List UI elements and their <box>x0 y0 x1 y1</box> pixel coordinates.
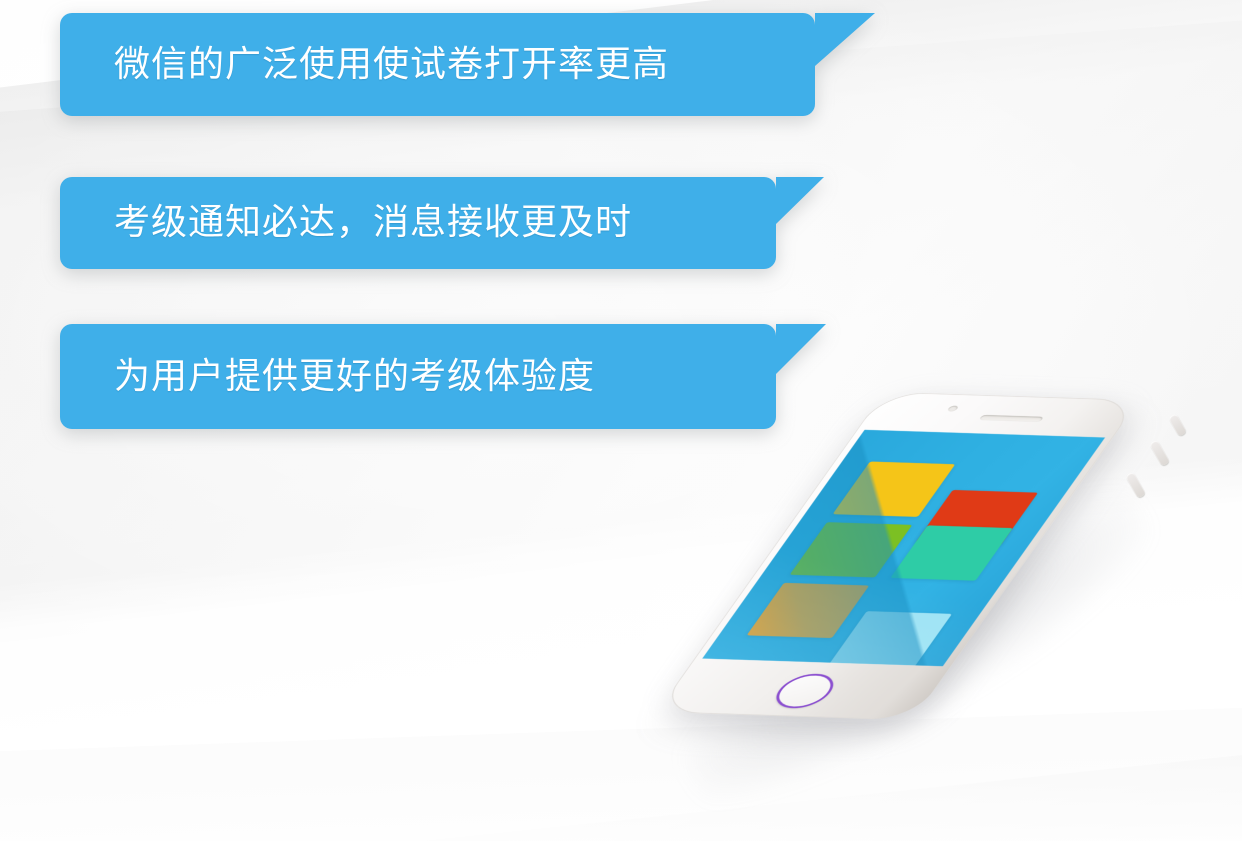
speech-bubble-1: 微信的广泛使用使试卷打开率更高 <box>60 13 815 116</box>
speech-bubble-2-text: 考级通知必达，消息接收更及时 <box>60 203 632 243</box>
screen-gloss <box>702 430 1105 666</box>
app-tile-yellow[interactable] <box>833 462 956 517</box>
speech-bubble-2-tail <box>776 177 824 224</box>
poster-canvas: 微信的广泛使用使试卷打开率更高 考级通知必达，消息接收更及时 为用户提供更好的考… <box>0 0 1242 841</box>
earpiece-speaker <box>979 415 1044 422</box>
phone-body <box>657 392 1140 720</box>
speech-bubble-2: 考级通知必达，消息接收更及时 <box>60 177 776 269</box>
phone-screen <box>702 430 1105 666</box>
speech-bubble-1-tail <box>815 13 875 66</box>
front-camera-icon <box>947 406 960 412</box>
phone-3d-scene <box>636 330 1236 730</box>
speech-bubble-1-text: 微信的广泛使用使试卷打开率更高 <box>60 45 669 85</box>
speech-bubble-3-text: 为用户提供更好的考级体验度 <box>60 357 595 397</box>
smartphone-illustration <box>636 330 1236 730</box>
